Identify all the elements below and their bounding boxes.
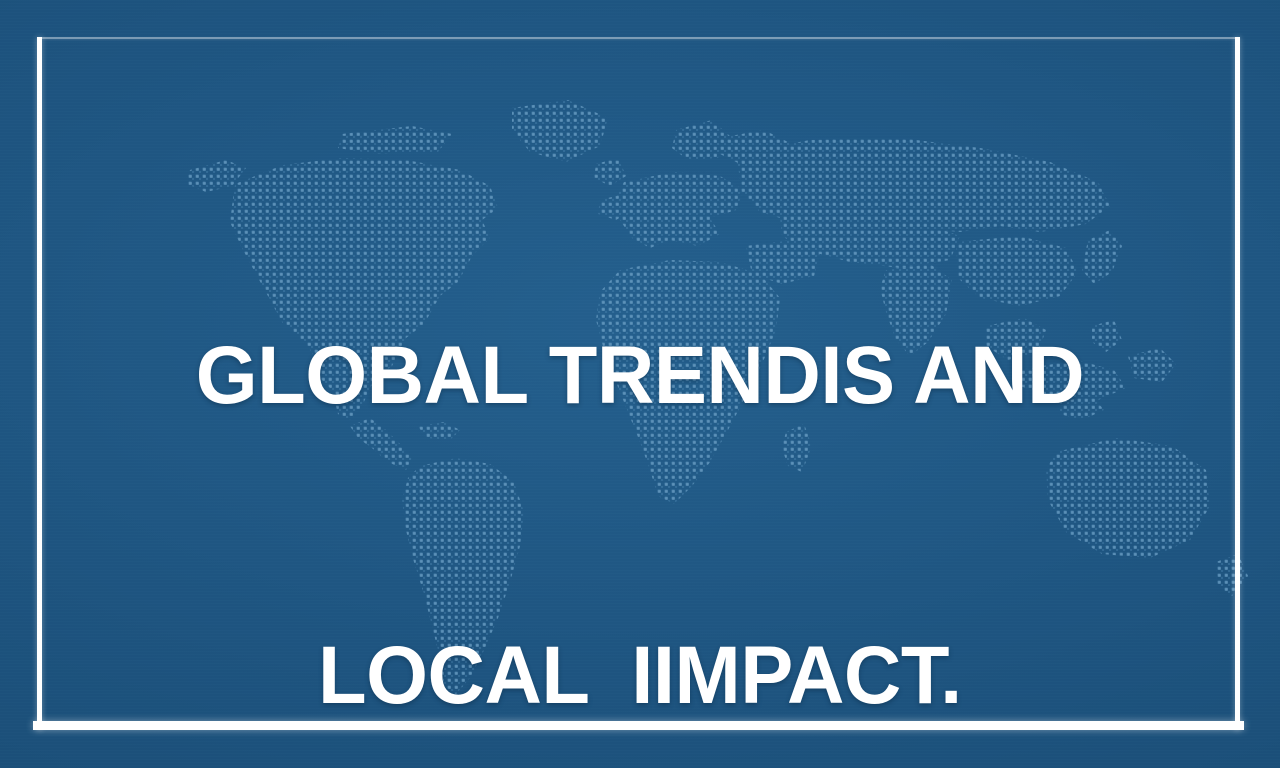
headline-line-1: GLOBAL TRENDIS AND	[196, 326, 1084, 426]
title-slide: GLOBAL TRENDIS AND LOCAL IIMPACT. A Week…	[0, 0, 1280, 768]
headline-line-2: LOCAL IIMPACT.	[196, 626, 1084, 726]
slide-headline: GLOBAL TRENDIS AND LOCAL IIMPACT.	[196, 126, 1084, 768]
slide-content: GLOBAL TRENDIS AND LOCAL IIMPACT. A Week…	[0, 0, 1280, 768]
